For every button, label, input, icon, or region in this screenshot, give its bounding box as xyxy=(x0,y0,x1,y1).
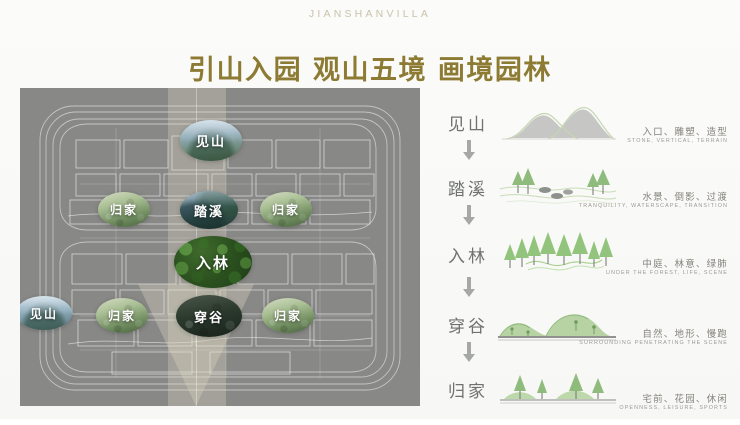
map-node-label: 归家 xyxy=(274,307,302,324)
map-node-label: 归家 xyxy=(272,201,300,218)
map-node-guijia-lower-right[interactable]: 归家 xyxy=(262,298,314,333)
stage-caption-en: SURROUNDING PENETRATING THE SCENE xyxy=(579,340,728,346)
map-node-label: 穿谷 xyxy=(194,307,224,326)
stage-arrow-down-icon xyxy=(462,205,476,225)
stage-caption-en: STONE, VERTICAL, TERRAIN xyxy=(627,138,728,144)
page-title: 引山入园 观山五境 画境园林 xyxy=(0,48,740,87)
map-node-label: 踏溪 xyxy=(194,201,224,220)
forest-trees-path-illustration xyxy=(498,228,618,280)
stage-caption-cn: 中庭、林意、绿肺 xyxy=(642,256,728,270)
stage-caption-en: OPENNESS, LEISURE, SPORTS xyxy=(619,405,728,411)
stage-row-jianshan[interactable]: 见山 入口、雕塑、造型 STONE, VERTICAL, TERRAIN xyxy=(440,100,732,158)
brand-eyebrow: JIANSHANVILLA xyxy=(0,8,740,20)
map-node-label: 归家 xyxy=(108,307,136,324)
map-node-jianshan-left[interactable]: 见山 xyxy=(20,296,72,330)
stage-caption-cn: 入口、雕塑、造型 xyxy=(642,124,728,138)
sequence-panel: 见山 入口、雕塑、造型 STONE, VERTICAL, TERRAIN 踏溪 xyxy=(440,92,732,412)
stage-arrow-down-icon xyxy=(462,277,476,297)
map-node-rulin[interactable]: 入林 xyxy=(174,236,252,288)
mountains-illustration xyxy=(498,96,618,148)
map-node-guijia-upper-left[interactable]: 归家 xyxy=(98,192,150,227)
map-node-label: 归家 xyxy=(110,201,138,218)
stage-row-guijia[interactable]: 归家 宅前、花园、休闲 OPENNESS, LEISURE, SPORTS xyxy=(440,367,732,425)
map-node-label: 见山 xyxy=(30,305,58,322)
site-plan-map[interactable]: 见山 踏溪 入林 穿谷 见山 归家 归家 归家 归家 xyxy=(20,88,420,406)
stage-name: 归家 xyxy=(448,377,488,402)
stage-name: 穿谷 xyxy=(448,312,488,337)
stage-name: 踏溪 xyxy=(448,175,488,200)
stage-caption-cn: 宅前、花园、休闲 xyxy=(642,391,728,405)
stage-caption-cn: 水景、倒影、过渡 xyxy=(642,189,728,203)
map-node-taxi[interactable]: 踏溪 xyxy=(180,191,238,229)
map-node-label: 入林 xyxy=(196,252,230,273)
garden-home-illustration xyxy=(498,363,618,415)
stage-caption-cn: 自然、地形、慢跑 xyxy=(642,326,728,340)
map-node-guijia-upper-right[interactable]: 归家 xyxy=(260,192,312,227)
map-node-label: 见山 xyxy=(196,131,226,150)
stage-caption-en: TRANQUILITY, WATERSCAPE, TRANSITION xyxy=(579,203,728,209)
stage-name: 入林 xyxy=(448,242,488,267)
stage-arrow-down-icon xyxy=(462,140,476,160)
stage-row-rulin[interactable]: 入林 中庭、林意、绿肺 UNDER THE FOREST, LIFE, SCEN… xyxy=(440,232,732,290)
stage-row-chuangu[interactable]: 穿谷 自然、地形、慢跑 SURROUNDING PENETRATING THE … xyxy=(440,302,732,360)
stage-name: 见山 xyxy=(448,110,488,135)
map-node-guijia-lower-left[interactable]: 归家 xyxy=(96,298,148,333)
map-node-jianshan-top[interactable]: 见山 xyxy=(180,120,242,161)
stage-row-taxi[interactable]: 踏溪 水景、倒影、过渡 TRANQUILITY, WATERSCAPE, TRA… xyxy=(440,165,732,223)
stage-arrow-down-icon xyxy=(462,342,476,362)
map-node-chuangu[interactable]: 穿谷 xyxy=(176,295,242,337)
stage-caption-en: UNDER THE FOREST, LIFE, SCENE xyxy=(606,270,728,276)
